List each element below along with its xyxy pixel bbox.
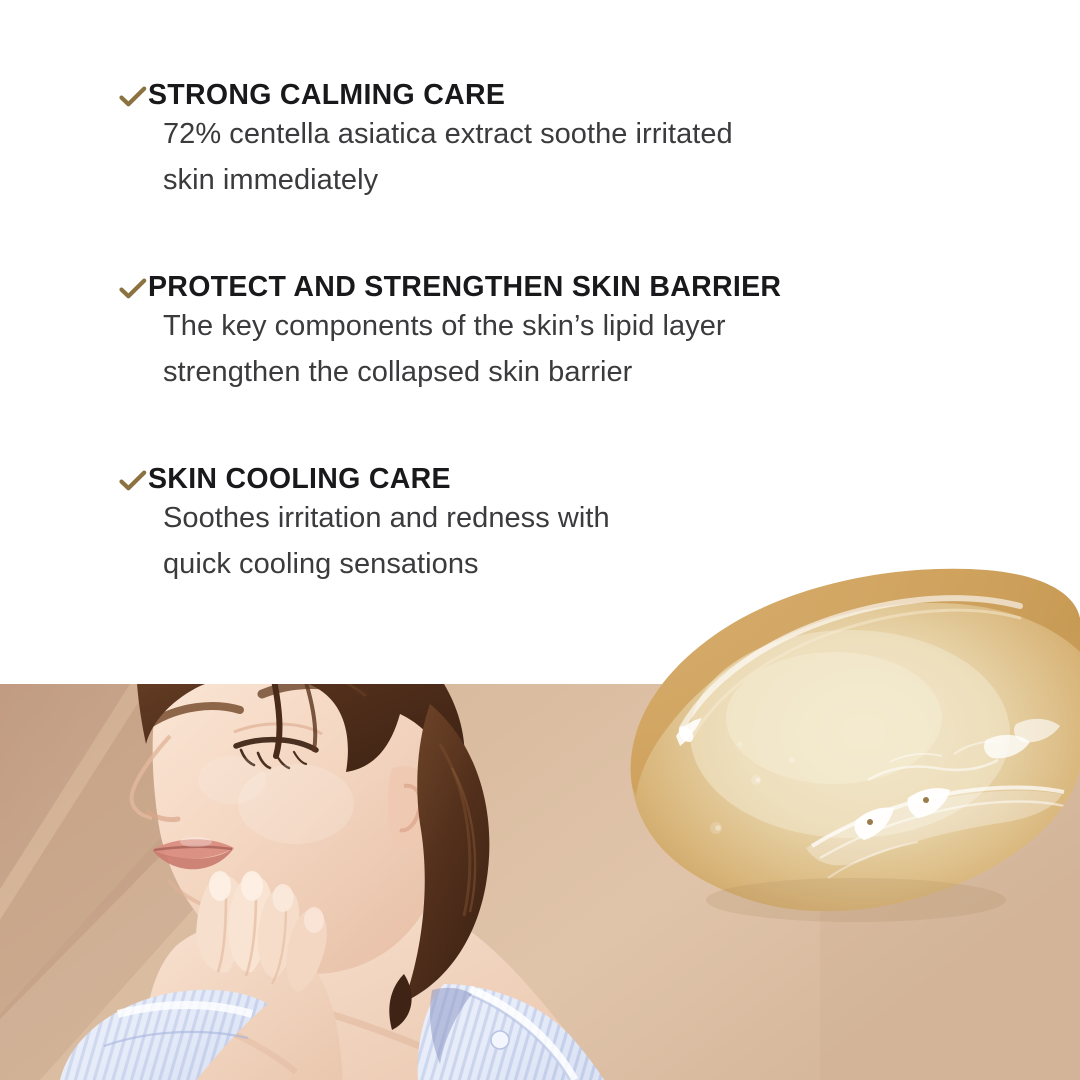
feature-description: Soothes irritation and redness with quic…: [118, 496, 1018, 588]
feature-title: PROTECT AND STRENGTHEN SKIN BARRIER: [148, 272, 781, 304]
check-icon: [118, 276, 148, 302]
check-icon: [118, 468, 148, 494]
check-icon: [118, 84, 148, 110]
feature-description-line: skin immediately: [163, 158, 1018, 204]
feature-title: SKIN COOLING CARE: [148, 464, 451, 496]
feature-item-protect-and-strengthen-skin-barrier: PROTECT AND STRENGTHEN SKIN BARRIER The …: [118, 272, 1018, 396]
feature-description: The key components of the skin’s lipid l…: [118, 304, 1018, 396]
feature-description-line: 72% centella asiatica extract soothe irr…: [163, 112, 1018, 158]
model-applying-skincare-photo: [0, 684, 1080, 1080]
feature-description-line: The key components of the skin’s lipid l…: [163, 304, 1018, 350]
product-feature-graphic: STRONG CALMING CARE 72% centella asiatic…: [0, 0, 1080, 1080]
feature-description: 72% centella asiatica extract soothe irr…: [118, 112, 1018, 204]
feature-title: STRONG CALMING CARE: [148, 80, 505, 112]
feature-list-panel: STRONG CALMING CARE 72% centella asiatic…: [0, 0, 1080, 684]
feature-item-skin-cooling-care: SKIN COOLING CARE Soothes irritation and…: [118, 464, 1018, 588]
feature-description-line: Soothes irritation and redness with: [163, 496, 1018, 542]
feature-description-line: strengthen the collapsed skin barrier: [163, 350, 1018, 396]
feature-item-strong-calming-care: STRONG CALMING CARE 72% centella asiatic…: [118, 80, 1018, 204]
feature-heading-row: PROTECT AND STRENGTHEN SKIN BARRIER: [118, 272, 1018, 304]
feature-heading-row: SKIN COOLING CARE: [118, 464, 1018, 496]
feature-heading-row: STRONG CALMING CARE: [118, 80, 1018, 112]
feature-description-line: quick cooling sensations: [163, 542, 1018, 588]
